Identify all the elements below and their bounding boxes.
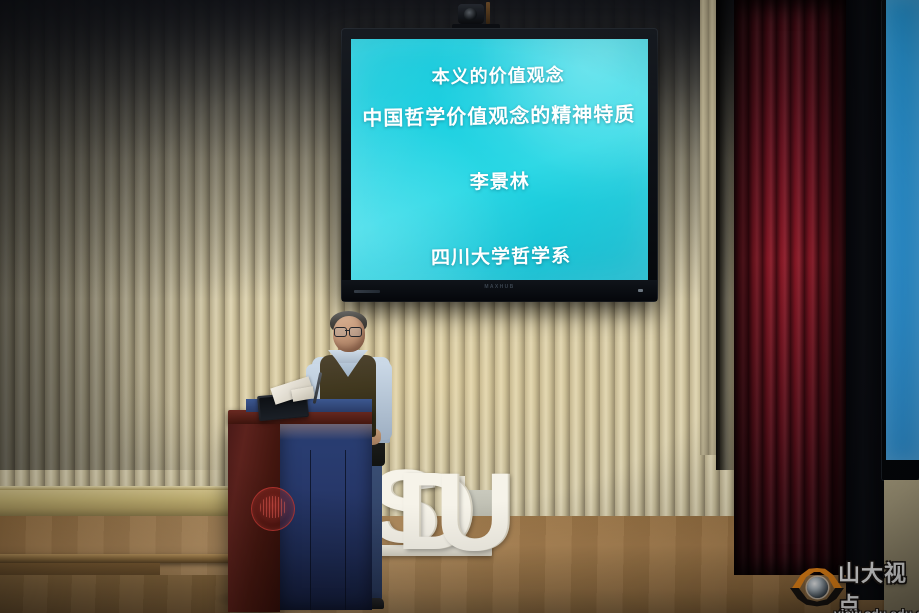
- display-bottom-bezel: MAXHUB: [342, 280, 657, 301]
- glasses-lens-right: [349, 327, 362, 337]
- eye-pupil: [807, 577, 828, 598]
- wall-strip-right: [700, 0, 716, 455]
- photo-scene: 本义的价值观念 中国哲学价值观念的精神特质 李景林 四川大学哲学系 MAXHUB…: [0, 0, 919, 613]
- podium-edge-highlight: [280, 424, 372, 440]
- baseboard-left: [0, 490, 235, 516]
- podium-university-crest: [251, 487, 295, 531]
- watermark-site-url: view.sdu.edu.cn: [834, 607, 919, 613]
- slide-screen: 本义的价值观念 中国哲学价值观念的精神特质 李景林 四川大学哲学系: [351, 39, 648, 280]
- wall-left-shadow: [0, 0, 230, 470]
- secondary-screen: [886, 0, 919, 460]
- watermark: 山大视点 view.sdu.edu.cn: [790, 556, 919, 613]
- sdu-letter-u: U: [435, 458, 514, 568]
- stage-step-edge: [0, 554, 240, 563]
- lower-floor: [0, 575, 230, 613]
- podium-panel-seam-1: [310, 450, 311, 610]
- glasses-bridge: [345, 330, 349, 331]
- podium-front-panel: [280, 424, 372, 610]
- display-brand-label: MAXHUB: [342, 284, 657, 290]
- camera-post: [486, 2, 490, 24]
- stage-curtain: [734, 0, 846, 575]
- podium-panel-seam-2: [345, 450, 346, 610]
- slide-speaker-name: 李景林: [470, 167, 530, 195]
- camera-lens-icon: [464, 8, 477, 21]
- glasses-lens-left: [334, 327, 347, 337]
- slide-line-1: 本义的价值观念: [431, 61, 564, 89]
- slide-line-2: 中国哲学价值观念的精神特质: [362, 98, 635, 131]
- slide-content: 本义的价值观念 中国哲学价值观念的精神特质 李景林 四川大学哲学系: [351, 39, 648, 280]
- slide-affiliation: 四川大学哲学系: [431, 241, 571, 270]
- display-power-led: [638, 289, 643, 292]
- curtain-left-shadow: [716, 0, 734, 470]
- display-ports: [354, 290, 380, 293]
- eye-logo-icon: [790, 567, 844, 609]
- curtain-right-shadow: [846, 0, 884, 600]
- watermark-site-name: 山大视点: [838, 556, 919, 613]
